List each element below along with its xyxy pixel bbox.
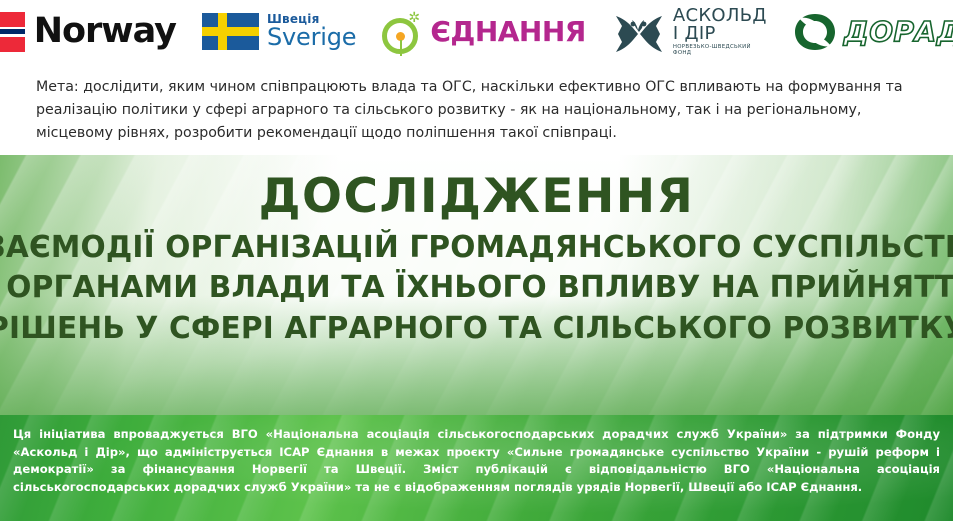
logo-askold-line2: І ДІР: [673, 25, 767, 43]
logo-askold-text: АСКОЛЬД І ДІР норвезько-шведський фонд: [673, 7, 767, 57]
logo-norway-label: Norway: [34, 14, 176, 49]
presentation-slide: Norway Швеція Sverige ✲ ЄДНАННЯ: [0, 0, 953, 521]
two-warriors-icon: [612, 10, 666, 54]
logo-ednannia-label: ЄДНАННЯ: [430, 18, 586, 46]
banner-subtitle-line-2: З ОРГАНАМИ ВЛАДИ ТА ЇХНЬОГО ВПЛИВУ НА ПР…: [0, 268, 953, 309]
logo-dorada: ДОРАДА: [793, 8, 953, 56]
norway-flag-cross-horizontal: [0, 29, 25, 34]
study-goal-paragraph: Мета: дослідити, яким чином співпрацюють…: [36, 76, 926, 145]
ednannia-flying-seed-icon: ✲: [408, 10, 423, 25]
footer-disclaimer-text: Ця ініціатива впроваджується ВГО «Націон…: [0, 415, 953, 496]
donor-logo-bar: Norway Швеція Sverige ✲ ЄДНАННЯ: [0, 0, 953, 63]
logo-sweden-label-sv: Sverige: [267, 25, 356, 50]
logo-sweden: Швеція Sverige: [202, 8, 356, 56]
norway-flag-icon: [0, 12, 25, 52]
logo-norway: Norway: [0, 8, 176, 56]
banner-heading: ДОСЛІДЖЕННЯ: [259, 171, 695, 224]
dandelion-icon: ✲: [382, 10, 424, 54]
logo-askold-i-dir: АСКОЛЬД І ДІР норвезько-шведський фонд: [612, 8, 767, 56]
logo-dorada-label: ДОРАДА: [844, 18, 953, 46]
banner-content: ДОСЛІДЖЕННЯ ВЗАЄМОДІЇ ОРГАНІЗАЦІЙ ГРОМАД…: [0, 155, 953, 415]
sweden-flag-icon: [202, 13, 259, 50]
footer-disclaimer-band: Ця ініціатива впроваджується ВГО «Націон…: [0, 415, 953, 521]
logo-sweden-text: Швеція Sverige: [267, 13, 356, 51]
ednannia-stem-icon: [400, 40, 402, 56]
study-title-banner: ДОСЛІДЖЕННЯ ВЗАЄМОДІЇ ОРГАНІЗАЦІЙ ГРОМАД…: [0, 155, 953, 415]
logo-ednannia: ✲ ЄДНАННЯ: [382, 8, 586, 56]
logo-askold-subtitle: норвезько-шведський фонд: [673, 45, 767, 56]
banner-subtitle-line-3: РІШЕНЬ У СФЕРІ АГРАРНОГО ТА СІЛЬСЬКОГО Р…: [0, 309, 953, 350]
banner-subtitle-line-1: ВЗАЄМОДІЇ ОРГАНІЗАЦІЙ ГРОМАДЯНСЬКОГО СУС…: [0, 228, 953, 269]
dorada-swirl-icon: [793, 12, 837, 52]
